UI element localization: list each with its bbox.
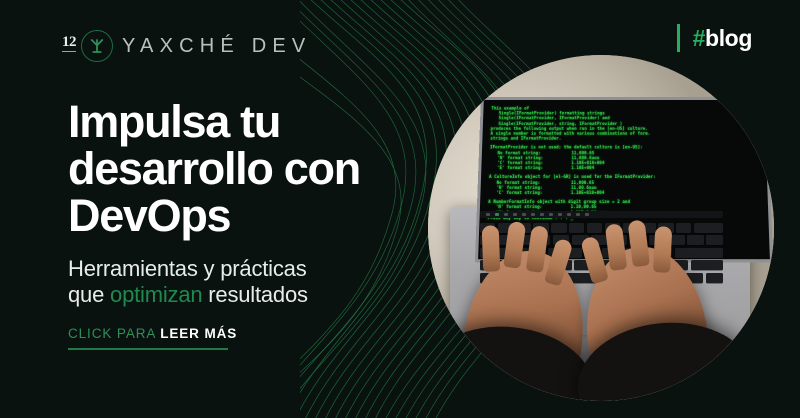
subtitle-accent-word: optimizan [110, 282, 202, 307]
subtitle-line-1: Herramientas y prácticas [68, 256, 307, 281]
touchbar-key [486, 213, 490, 216]
brand-logo[interactable]: 12 YAXCHÉ DEV [62, 30, 311, 62]
touchbar-key [531, 213, 535, 216]
blog-badge-text: blog [705, 25, 752, 51]
blog-hero-banner: This example of Single(IFormatProvider) … [0, 0, 800, 418]
touchbar-key [504, 213, 508, 216]
headline-line-3: DevOps [68, 190, 230, 241]
hero-copy: Impulsa tu desarrollo con DevOps Herrami… [68, 98, 398, 308]
headline-line-1: Impulsa tu [68, 96, 280, 147]
logo-number-badge: 12 [62, 35, 76, 52]
touchbar-key [576, 213, 580, 216]
laptop-touchbar [480, 211, 723, 218]
subtitle-line-2-prefix: que [68, 282, 110, 307]
blog-badge-label: #blog [693, 25, 752, 52]
cta-strong-text: LEER MÁS [160, 326, 237, 341]
photo-content: This example of Single(IFormatProvider) … [428, 55, 774, 401]
brand-wordmark: YAXCHÉ DEV [122, 35, 311, 58]
touchbar-key [513, 213, 517, 216]
cta-underline [68, 348, 228, 350]
hero-subtitle: Herramientas y prácticas que optimizan r… [68, 256, 398, 308]
headline-line-2: desarrollo con [68, 143, 360, 194]
touchbar-key [558, 213, 562, 216]
badge-divider [677, 24, 680, 52]
cta-label: CLICK PARA LEER MÁS [68, 326, 237, 341]
touchbar-key [549, 213, 553, 216]
read-more-cta[interactable]: CLICK PARA LEER MÁS [68, 326, 237, 350]
touchbar-key [585, 213, 589, 216]
touchbar-key [522, 213, 526, 216]
subtitle-line-2-suffix: resultados [202, 282, 307, 307]
laptop-photo-circle: This example of Single(IFormatProvider) … [428, 55, 774, 401]
touchbar-key [540, 213, 544, 216]
hash-icon: # [693, 25, 705, 51]
yaxche-tree-icon [81, 30, 113, 62]
blog-badge[interactable]: #blog [677, 24, 752, 52]
page-title: Impulsa tu desarrollo con DevOps [68, 98, 398, 239]
cta-prefix: CLICK PARA [68, 326, 160, 341]
touchbar-key [567, 213, 571, 216]
touchbar-key [495, 213, 499, 216]
